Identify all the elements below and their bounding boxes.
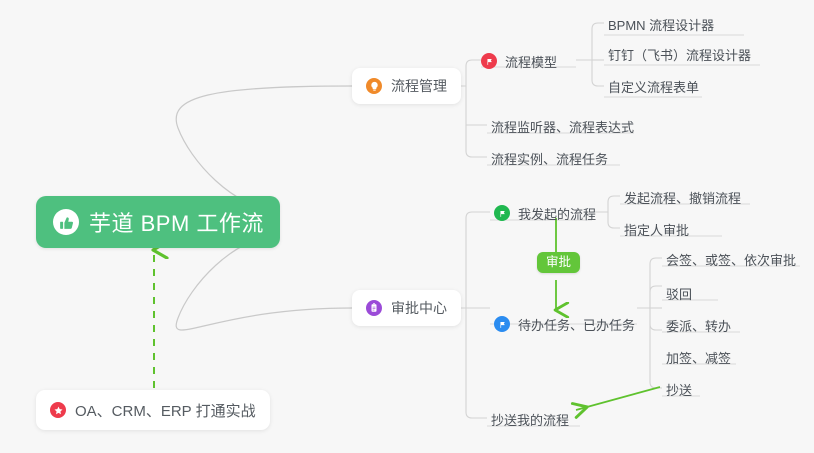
star-icon <box>50 402 66 418</box>
annotation-arrow-chaosong <box>576 387 660 410</box>
lightbulb-icon <box>366 78 382 94</box>
leaf-node-liucheng-moxing[interactable]: 流程模型 <box>481 48 557 74</box>
leaf-node-faqi-chexiao[interactable]: 发起流程、撤销流程 <box>624 184 741 210</box>
leaf-label-custom-process-form: 自定义流程表单 <box>608 77 699 96</box>
leaf-node-bohui[interactable]: 驳回 <box>666 280 692 306</box>
leaf-node-liucheng-jiantingqi[interactable]: 流程监听器、流程表达式 <box>491 113 634 139</box>
leaf-label-chaosong: 抄送 <box>666 380 692 399</box>
connector-spzx-to-chaosongwode <box>466 308 487 418</box>
flag-icon <box>481 53 497 69</box>
thumbs-up-icon <box>53 209 79 235</box>
leaf-label-huiqian-huoqian: 会签、或签、依次审批 <box>666 250 796 269</box>
connector-wofaqi-to-faqichexiao <box>592 196 620 212</box>
connector-lcmx-to-customform <box>592 60 604 86</box>
connector-lcmx-to-bpmn <box>576 23 604 60</box>
leaf-node-chaosong-wo-de-liucheng[interactable]: 抄送我的流程 <box>491 406 569 432</box>
leaf-node-dingtalk-feishu-designer[interactable]: 钉钉（飞书）流程设计器 <box>608 41 751 67</box>
leaf-node-jiaqian-jianqian[interactable]: 加签、减签 <box>666 344 731 370</box>
branch-node-liucheng-guanli[interactable]: 流程管理 <box>352 68 461 104</box>
connector-daiban-to-huiqian <box>637 258 662 308</box>
leaf-label-liucheng-jiantingqi: 流程监听器、流程表达式 <box>491 117 634 136</box>
connector-daiban-to-bohui <box>650 286 662 308</box>
leaf-node-huiqian-huoqian[interactable]: 会签、或签、依次审批 <box>666 246 796 272</box>
leaf-label-bohui: 驳回 <box>666 284 692 303</box>
leaf-node-zhidingren-shenpi[interactable]: 指定人审批 <box>624 216 689 242</box>
leaf-label-daiban-yiban-renwu: 待办任务、已办任务 <box>518 315 635 334</box>
leaf-node-custom-process-form[interactable]: 自定义流程表单 <box>608 73 699 99</box>
leaf-label-wo-faqi-de-liucheng: 我发起的流程 <box>518 204 596 223</box>
leaf-label-weipai-zhuanban: 委派、转办 <box>666 316 731 335</box>
annotation-badge-shenpi[interactable]: 审批 <box>537 252 580 273</box>
leaf-label-liucheng-moxing: 流程模型 <box>505 52 557 71</box>
clipboard-icon <box>366 300 382 316</box>
leaf-label-zhidingren-shenpi: 指定人审批 <box>624 220 689 239</box>
footnote-node[interactable]: OA、CRM、ERP 打通实战 <box>36 390 270 430</box>
connector-daiban-to-jiaqian <box>650 308 662 330</box>
root-label: 芋道 BPM 工作流 <box>89 206 264 238</box>
leaf-node-bpmn-designer[interactable]: BPMN 流程设计器 <box>608 11 714 37</box>
annotation-badge-label: 审批 <box>546 255 571 269</box>
mindmap-canvas: 芋道 BPM 工作流 流程管理 审批中心 流程 <box>0 0 814 453</box>
leaf-label-chaosong-wo-de-liucheng: 抄送我的流程 <box>491 410 569 429</box>
leaf-node-daiban-yiban-renwu[interactable]: 待办任务、已办任务 <box>494 311 635 337</box>
connector-daiban-to-chaosong <box>650 308 662 388</box>
leaf-label-liucheng-shili: 流程实例、流程任务 <box>491 149 608 168</box>
leaf-label-faqi-chexiao: 发起流程、撤销流程 <box>624 188 741 207</box>
connector-wofaqi-to-zhidingren <box>608 212 620 228</box>
leaf-label-bpmn-designer: BPMN 流程设计器 <box>608 15 714 34</box>
connector-lcgl-to-jiantingqi <box>466 86 487 125</box>
connector-root-to-shenpi-zhongxin <box>176 234 352 330</box>
footnote-label: OA、CRM、ERP 打通实战 <box>75 400 256 421</box>
flag-icon <box>494 205 510 221</box>
connector-lcgl-to-shili <box>466 125 487 157</box>
leaf-node-wo-faqi-de-liucheng[interactable]: 我发起的流程 <box>494 200 596 226</box>
branch-label-liucheng-guanli: 流程管理 <box>391 76 447 96</box>
branch-node-shenpi-zhongxin[interactable]: 审批中心 <box>352 290 461 326</box>
leaf-label-dingtalk-feishu-designer: 钉钉（飞书）流程设计器 <box>608 45 751 64</box>
leaf-node-liucheng-shili[interactable]: 流程实例、流程任务 <box>491 145 608 171</box>
leaf-label-jiaqian-jianqian: 加签、减签 <box>666 348 731 367</box>
leaf-node-chaosong[interactable]: 抄送 <box>666 376 692 402</box>
root-node[interactable]: 芋道 BPM 工作流 <box>36 196 280 248</box>
flag-icon <box>494 316 510 332</box>
connector-root-to-liucheng-guanli <box>176 86 352 212</box>
leaf-node-weipai-zhuanban[interactable]: 委派、转办 <box>666 312 731 338</box>
branch-label-shenpi-zhongxin: 审批中心 <box>391 298 447 318</box>
